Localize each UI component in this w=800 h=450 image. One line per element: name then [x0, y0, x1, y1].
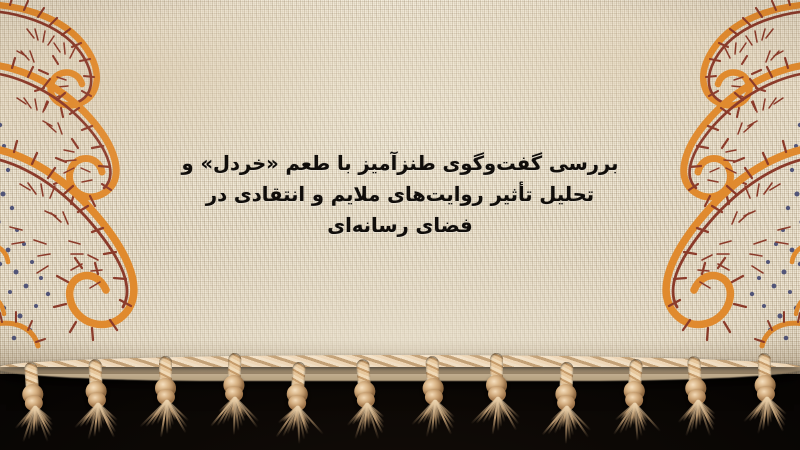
title-line-2: تحلیل تأثیر روایت‌های ملایم و انتقادی در: [170, 179, 630, 210]
title-line-3: فضای رسانه‌ای: [170, 210, 630, 241]
page-title: بررسی گفت‌وگوی طنزآمیز با طعم «خردل» و ت…: [0, 148, 800, 241]
title-line-1: بررسی گفت‌وگوی طنزآمیز با طعم «خردل» و: [170, 148, 630, 179]
textile-banner-stage: بررسی گفت‌وگوی طنزآمیز با طعم «خردل» و ت…: [0, 0, 800, 450]
cloth-hem: [0, 359, 800, 381]
